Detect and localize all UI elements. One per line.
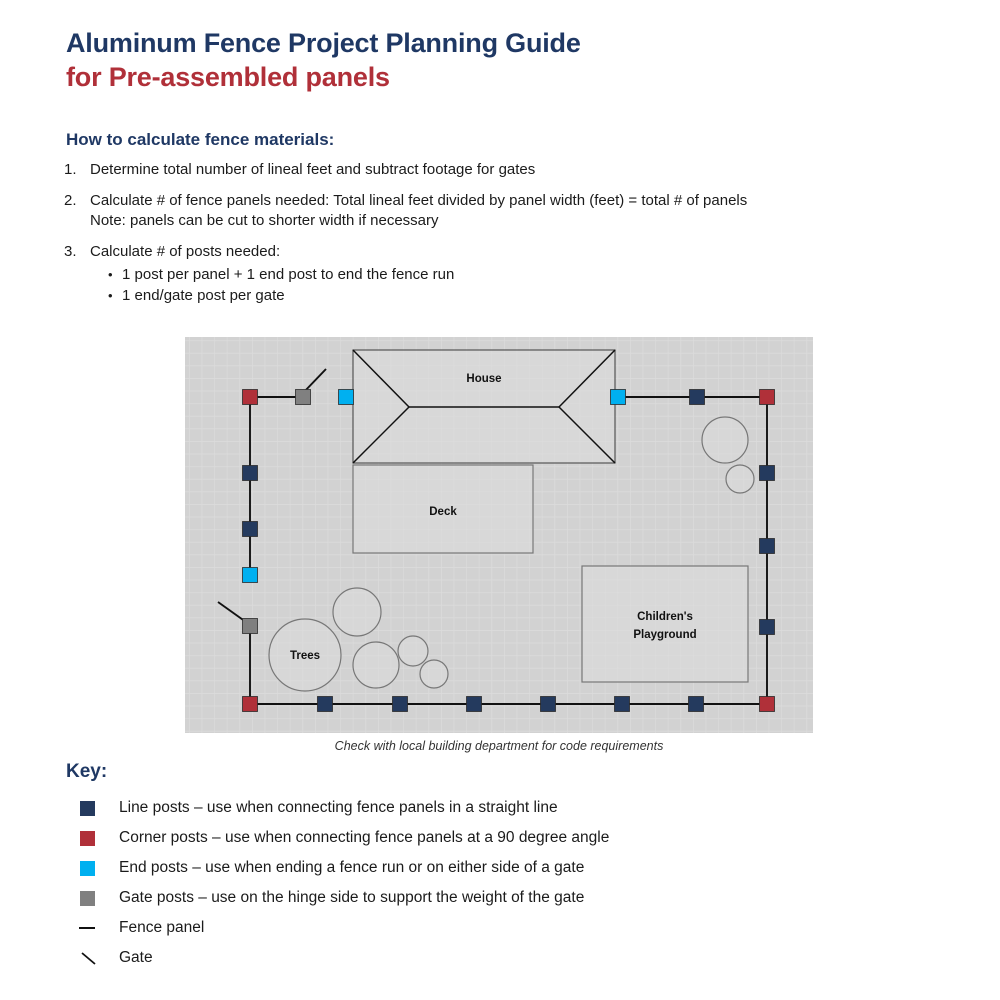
line-post-marker	[541, 697, 556, 712]
line-post-marker	[760, 539, 775, 554]
bullet-text: 1 end/gate post per gate	[122, 285, 285, 306]
playground-label-line1: Children's	[637, 611, 693, 623]
list-item: Gate posts – use on the hinge side to su…	[80, 883, 940, 913]
title-line-accent: for Pre-assembled panels	[66, 62, 581, 92]
title-line-primary: Aluminum Fence Project Planning Guide	[66, 28, 581, 58]
key-label: Line posts – use when connecting fence p…	[119, 798, 558, 818]
fence-layout-diagram: House Deck Children's Playground Trees	[185, 337, 813, 733]
key-legend: Line posts – use when connecting fence p…	[80, 793, 940, 973]
list-item: End posts – use when ending a fence run …	[80, 853, 940, 883]
list-item: • 1 post per panel + 1 end post to end t…	[108, 264, 944, 285]
line-post-marker	[243, 466, 258, 481]
key-heading: Key:	[66, 761, 107, 783]
step-number: 2.	[64, 191, 90, 231]
page-title: Aluminum Fence Project Planning Guide fo…	[66, 28, 581, 92]
deck-label: Deck	[429, 506, 457, 518]
line-post-marker	[760, 466, 775, 481]
end-post-marker	[339, 390, 354, 405]
gate-slash-line-icon	[80, 951, 119, 966]
line-post-marker	[760, 620, 775, 635]
section-heading: How to calculate fence materials:	[66, 130, 334, 150]
line-post-marker	[318, 697, 333, 712]
list-item: 3. Calculate # of posts needed:	[64, 242, 944, 262]
end-post-marker	[243, 568, 258, 583]
list-item: Line posts – use when connecting fence p…	[80, 793, 940, 823]
end-post-swatch	[80, 861, 119, 876]
bullet-dot-icon: •	[108, 264, 122, 285]
list-item: 1. Determine total number of lineal feet…	[64, 160, 944, 180]
line-post-marker	[243, 522, 258, 537]
playground-shape	[582, 566, 748, 682]
corner-post-marker	[243, 697, 258, 712]
corner-post-marker	[760, 390, 775, 405]
step-number: 1.	[64, 160, 90, 180]
step-number: 3.	[64, 242, 90, 262]
step-note: Note: panels can be cut to shorter width…	[90, 211, 747, 231]
corner-post-swatch	[80, 831, 119, 846]
key-label: Gate	[119, 948, 153, 968]
list-item: Fence panel	[80, 913, 940, 943]
step-text: Calculate # of fence panels needed: Tota…	[90, 191, 747, 211]
gate-post-marker	[296, 390, 311, 405]
corner-post-marker	[760, 697, 775, 712]
step-text: Calculate # of posts needed:	[90, 242, 280, 262]
bullet-text: 1 post per panel + 1 end post to end the…	[122, 264, 454, 285]
key-label: Corner posts – use when connecting fence…	[119, 828, 609, 848]
sub-bullet-list: • 1 post per panel + 1 end post to end t…	[108, 264, 944, 306]
bullet-dot-icon: •	[108, 285, 122, 306]
gate-post-swatch	[80, 891, 119, 906]
gate-post-marker	[243, 619, 258, 634]
line-post-marker	[689, 697, 704, 712]
diagram-canvas: House Deck Children's Playground Trees	[185, 337, 813, 733]
instructions-list: 1. Determine total number of lineal feet…	[64, 160, 944, 306]
corner-post-marker	[243, 390, 258, 405]
list-item: Gate	[80, 943, 940, 973]
list-item: Corner posts – use when connecting fence…	[80, 823, 940, 853]
line-post-marker	[467, 697, 482, 712]
house-label: House	[466, 373, 501, 385]
house-shape	[353, 350, 615, 463]
line-post-marker	[615, 697, 630, 712]
key-label: Gate posts – use on the hinge side to su…	[119, 888, 584, 908]
list-item: • 1 end/gate post per gate	[108, 285, 944, 306]
playground-label-line2: Playground	[633, 629, 696, 641]
fence-panel-line-icon	[80, 927, 119, 929]
diagram-caption: Check with local building department for…	[185, 739, 813, 753]
step-text: Determine total number of lineal feet an…	[90, 160, 535, 180]
trees-label: Trees	[290, 650, 320, 662]
list-item: 2. Calculate # of fence panels needed: T…	[64, 191, 944, 231]
key-label: End posts – use when ending a fence run …	[119, 858, 584, 878]
line-post-marker	[393, 697, 408, 712]
line-post-swatch	[80, 801, 119, 816]
end-post-marker	[611, 390, 626, 405]
line-post-marker	[690, 390, 705, 405]
key-label: Fence panel	[119, 918, 204, 938]
